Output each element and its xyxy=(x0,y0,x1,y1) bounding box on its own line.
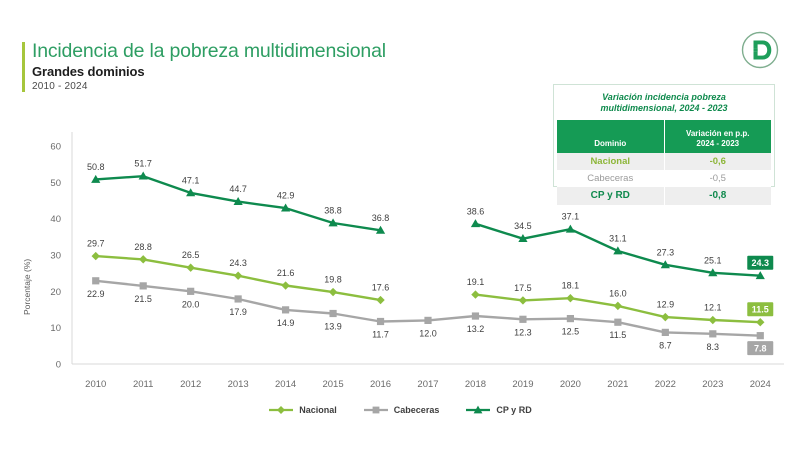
data-point-marker xyxy=(567,315,574,322)
data-point-marker xyxy=(566,225,575,233)
data-label: 17.6 xyxy=(372,283,390,293)
x-axis-tick: 2015 xyxy=(322,379,343,390)
data-point-marker xyxy=(519,316,526,323)
data-point-marker xyxy=(92,277,99,284)
data-label: 25.1 xyxy=(704,255,722,265)
data-label: 21.5 xyxy=(134,294,152,304)
x-axis-tick: 2024 xyxy=(750,379,771,390)
data-label: 20.0 xyxy=(182,299,200,309)
y-axis-tick: 0 xyxy=(56,360,61,371)
data-label: 12.9 xyxy=(657,300,675,310)
data-point-marker xyxy=(139,255,147,263)
data-point-marker xyxy=(376,296,384,304)
data-label: 31.1 xyxy=(609,234,627,244)
legend-label: Cabeceras xyxy=(394,405,440,415)
x-axis-tick: 2019 xyxy=(512,379,533,390)
data-point-marker xyxy=(472,312,479,319)
data-point-marker xyxy=(377,318,384,325)
legend-label: CP y RD xyxy=(496,405,531,415)
data-point-marker xyxy=(235,295,242,302)
data-point-marker xyxy=(757,332,764,339)
data-point-marker xyxy=(329,288,337,296)
data-point-marker xyxy=(471,290,479,298)
slide-root: Incidencia de la pobreza multidimensiona… xyxy=(0,0,800,450)
data-label: 19.1 xyxy=(467,277,485,287)
legend-item-cp-y-rd[interactable]: CP y RD xyxy=(465,404,531,416)
chart-legend: NacionalCabecerasCP y RD xyxy=(0,404,800,416)
data-label: 18.1 xyxy=(562,281,580,291)
data-point-marker xyxy=(234,272,242,280)
data-label: 28.8 xyxy=(134,242,152,252)
data-point-marker xyxy=(92,252,100,260)
y-axis-tick: 60 xyxy=(50,142,61,153)
data-label: 13.9 xyxy=(324,321,342,331)
data-label: 13.2 xyxy=(467,324,485,334)
data-label: 12.3 xyxy=(514,327,532,337)
line-chart-plot: 0102030405060201020112012201320142015201… xyxy=(0,100,800,450)
data-label: 27.3 xyxy=(657,247,675,257)
data-point-marker xyxy=(140,282,147,289)
x-axis-tick: 2011 xyxy=(133,379,153,390)
data-label: 19.8 xyxy=(324,275,342,285)
data-label: 44.7 xyxy=(229,184,247,194)
title-accent-bar xyxy=(22,42,25,92)
data-label: 11.5 xyxy=(609,330,626,340)
data-label: 14.9 xyxy=(277,318,295,328)
data-label: 8.3 xyxy=(707,342,720,352)
page-period: 2010 - 2024 xyxy=(32,81,88,92)
x-axis-tick: 2010 xyxy=(85,379,106,390)
data-label: 21.6 xyxy=(277,268,295,278)
page-subtitle: Grandes dominios xyxy=(32,64,145,79)
data-label: 11.5 xyxy=(752,305,769,315)
legend-item-cabeceras[interactable]: Cabeceras xyxy=(363,404,440,416)
data-point-marker xyxy=(614,302,622,310)
x-axis-tick: 2022 xyxy=(655,379,676,390)
page-title: Incidencia de la pobreza multidimensiona… xyxy=(32,40,386,63)
data-point-marker xyxy=(661,313,669,321)
y-axis-tick: 50 xyxy=(50,178,61,189)
data-point-marker xyxy=(187,288,194,295)
data-label: 24.3 xyxy=(229,258,247,268)
data-point-marker xyxy=(424,317,431,324)
data-point-marker xyxy=(186,264,194,272)
x-axis-tick: 2018 xyxy=(465,379,486,390)
legend-label: Nacional xyxy=(299,405,337,415)
data-label: 12.5 xyxy=(562,327,580,337)
data-label: 17.9 xyxy=(229,307,247,317)
series-cp-y-rd: 50.851.747.144.742.938.836.838.634.537.1… xyxy=(87,159,773,279)
data-label: 34.5 xyxy=(514,221,532,231)
data-label: 50.8 xyxy=(87,162,105,172)
data-point-marker xyxy=(756,318,764,326)
legend-swatch-triangle-icon xyxy=(465,404,491,416)
data-label: 36.8 xyxy=(372,213,390,223)
data-point-marker xyxy=(566,294,574,302)
data-point-marker xyxy=(614,319,621,326)
data-label: 11.7 xyxy=(372,329,389,339)
x-axis-tick: 2012 xyxy=(180,379,201,390)
data-label: 22.9 xyxy=(87,289,105,299)
data-point-marker xyxy=(281,281,289,289)
data-label: 26.5 xyxy=(182,250,200,260)
data-point-marker xyxy=(282,306,289,313)
series-cabeceras: 22.921.520.017.914.913.911.712.013.212.3… xyxy=(87,277,773,355)
x-axis-tick: 2014 xyxy=(275,379,296,390)
x-axis-tick: 2023 xyxy=(702,379,723,390)
data-label: 12.0 xyxy=(419,328,437,338)
data-label: 24.3 xyxy=(752,258,770,268)
dane-logo-icon xyxy=(738,28,782,72)
data-label: 38.6 xyxy=(467,206,485,216)
data-label: 37.1 xyxy=(562,212,580,222)
y-axis-tick: 30 xyxy=(50,251,61,262)
x-axis-tick: 2013 xyxy=(228,379,249,390)
x-axis-tick: 2016 xyxy=(370,379,391,390)
y-axis-tick: 10 xyxy=(50,323,61,334)
data-label: 47.1 xyxy=(182,175,200,185)
data-point-marker xyxy=(329,310,336,317)
x-axis-tick: 2020 xyxy=(560,379,581,390)
legend-swatch-square-icon xyxy=(363,404,389,416)
data-point-marker xyxy=(709,330,716,337)
x-axis-tick: 2021 xyxy=(607,379,628,390)
y-axis-tick: 40 xyxy=(50,214,61,225)
data-label: 8.7 xyxy=(659,340,672,350)
legend-item-nacional[interactable]: Nacional xyxy=(268,404,337,416)
data-label: 38.8 xyxy=(324,206,342,216)
data-label: 16.0 xyxy=(609,288,627,298)
y-axis-tick: 20 xyxy=(50,287,61,298)
data-label: 42.9 xyxy=(277,191,295,201)
data-label: 12.1 xyxy=(704,303,722,313)
data-label: 7.8 xyxy=(754,344,767,354)
data-point-marker xyxy=(662,329,669,336)
x-axis-tick: 2017 xyxy=(417,379,438,390)
data-label: 17.5 xyxy=(514,283,532,293)
data-point-marker xyxy=(709,316,717,324)
data-label: 29.7 xyxy=(87,239,105,249)
data-point-marker xyxy=(471,219,480,227)
data-label: 51.7 xyxy=(134,159,152,169)
data-point-marker xyxy=(519,296,527,304)
chart-area: Porcentaje (%) 0102030405060201020112012… xyxy=(0,100,800,450)
legend-swatch-diamond-icon xyxy=(268,404,294,416)
